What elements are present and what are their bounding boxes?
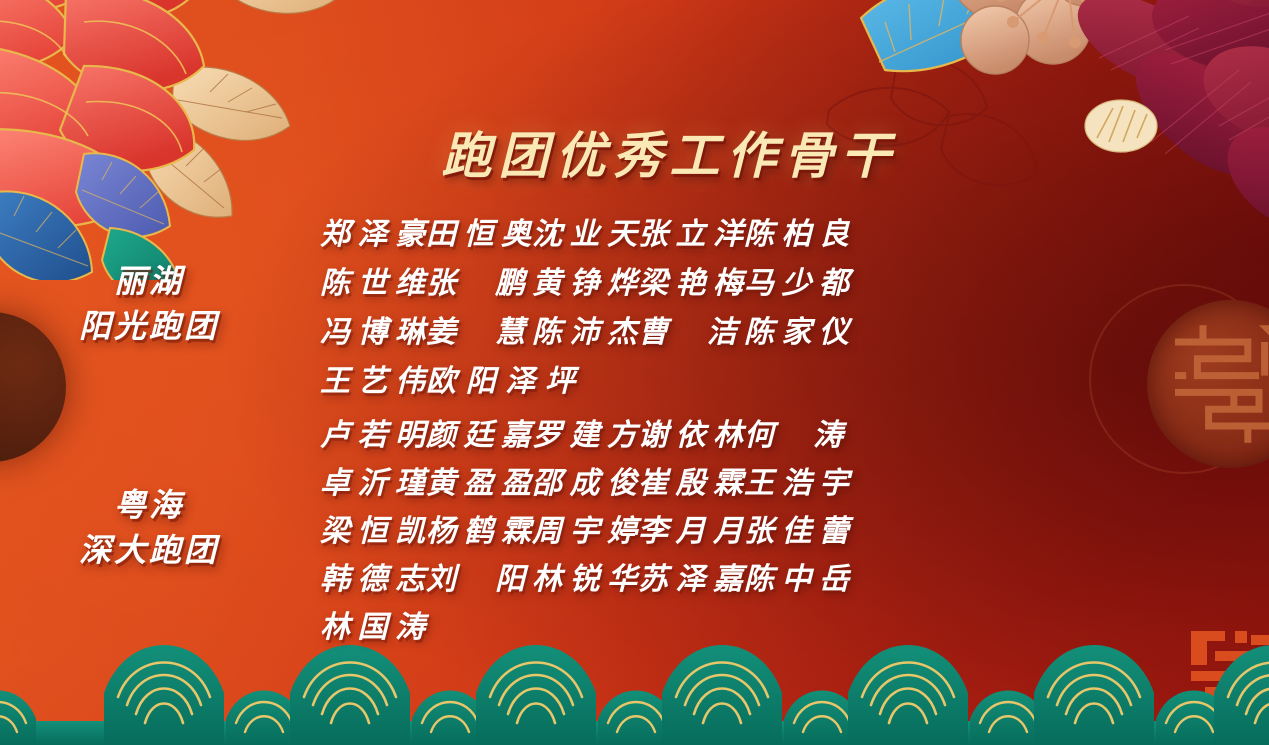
name-char: 姜 xyxy=(426,307,457,351)
name-char: 霖 xyxy=(713,458,744,502)
group-label-lihu: 丽湖 阳光跑团 xyxy=(0,259,320,349)
member-name: 黄铮烨 xyxy=(532,258,638,302)
name-char: 泽 xyxy=(358,209,389,253)
name-char: 坪 xyxy=(545,356,576,400)
name-char: 佳 xyxy=(782,506,813,550)
name-row: 陈世维张鹏黄铮烨梁艳梅马少都 xyxy=(320,255,1269,304)
member-name: 罗建方 xyxy=(532,410,638,454)
name-char: 中 xyxy=(782,554,813,598)
name-char: 凯 xyxy=(395,506,426,550)
name-char: 建 xyxy=(570,410,601,454)
name-char: 谢 xyxy=(638,410,669,454)
name-char: 陈 xyxy=(744,209,775,253)
name-char: 曹 xyxy=(638,307,669,351)
name-char: 鹏 xyxy=(495,258,526,302)
member-name: 张鹏 xyxy=(426,258,532,302)
name-char: 月 xyxy=(676,506,707,550)
name-char: 苏 xyxy=(638,554,669,598)
name-char: 锐 xyxy=(570,554,601,598)
member-name: 谢依林 xyxy=(638,410,744,454)
name-char: 梅 xyxy=(713,258,744,302)
name-char: 冯 xyxy=(320,307,351,351)
name-char: 仪 xyxy=(819,307,850,351)
name-row: 林国涛 xyxy=(320,600,1269,648)
member-name: 欧阳泽坪 xyxy=(426,356,576,400)
member-name: 刘阳 xyxy=(426,554,532,598)
name-grid-yuehai: 卢若明颜廷嘉罗建方谢依林何涛卓沂瑾黄盈盈邵成俊崔殷霖王浩宇梁恒凯杨鹤霖周宇婷李月… xyxy=(320,408,1269,648)
name-char: 殷 xyxy=(676,458,707,502)
name-char: 德 xyxy=(358,554,389,598)
member-name: 曹洁 xyxy=(638,307,744,351)
name-row: 梁恒凯杨鹤霖周宇婷李月月张佳蕾 xyxy=(320,504,1269,552)
name-char: 陈 xyxy=(744,554,775,598)
name-char: 恒 xyxy=(358,506,389,550)
group-label-line1: 粤海 xyxy=(114,486,184,524)
member-name: 梁艳梅 xyxy=(638,258,744,302)
name-char: 若 xyxy=(358,410,389,454)
name-row: 卓沂瑾黄盈盈邵成俊崔殷霖王浩宇 xyxy=(320,456,1269,504)
name-char: 家 xyxy=(782,307,813,351)
member-name: 林国涛 xyxy=(320,602,426,646)
honor-roll-panel: 丽湖 阳光跑团 郑泽豪田恒奥沈业天张立洋陈柏良陈世维张鹏黄铮烨梁艳梅马少都冯博琳… xyxy=(0,206,1269,654)
name-char: 阳 xyxy=(466,356,497,400)
name-char: 韩 xyxy=(320,554,351,598)
name-char: 卓 xyxy=(320,458,351,502)
member-name: 何涛 xyxy=(744,410,850,454)
member-name: 周宇婷 xyxy=(532,506,638,550)
name-char: 豪 xyxy=(395,209,426,253)
name-char: 杨 xyxy=(426,506,457,550)
name-char: 依 xyxy=(676,410,707,454)
name-char: 华 xyxy=(607,554,638,598)
name-row: 卢若明颜廷嘉罗建方谢依林何涛 xyxy=(320,408,1269,456)
name-char: 博 xyxy=(358,307,389,351)
name-char: 月 xyxy=(713,506,744,550)
name-char: 立 xyxy=(676,209,707,253)
name-char: 蕾 xyxy=(819,506,850,550)
member-name: 姜慧 xyxy=(426,307,532,351)
name-char: 瑾 xyxy=(395,458,426,502)
name-char: 恒 xyxy=(464,209,495,253)
name-char: 国 xyxy=(358,602,389,646)
name-char: 鹤 xyxy=(464,506,495,550)
name-char: 周 xyxy=(532,506,563,550)
member-name: 陈柏良 xyxy=(744,209,850,253)
member-name: 韩德志 xyxy=(320,554,426,598)
name-char: 天 xyxy=(607,209,638,253)
name-char: 艺 xyxy=(358,356,389,400)
name-char: 浩 xyxy=(782,458,813,502)
name-char: 嘉 xyxy=(501,410,532,454)
name-char: 烨 xyxy=(607,258,638,302)
member-name: 陈世维 xyxy=(320,258,426,302)
group-label-line2: 深大跑团 xyxy=(0,528,298,573)
name-char: 嘉 xyxy=(713,554,744,598)
name-char: 何 xyxy=(744,410,775,454)
member-name: 颜廷嘉 xyxy=(426,410,532,454)
name-char: 张 xyxy=(638,209,669,253)
name-char: 林 xyxy=(532,554,563,598)
member-name: 邵成俊 xyxy=(532,458,638,502)
name-char: 郑 xyxy=(320,209,351,253)
name-char: 岳 xyxy=(819,554,850,598)
name-char: 张 xyxy=(426,258,457,302)
name-char: 奥 xyxy=(501,209,532,253)
name-char: 廷 xyxy=(464,410,495,454)
member-name: 卓沂瑾 xyxy=(320,458,426,502)
name-char: 卢 xyxy=(320,410,351,454)
name-char: 邵 xyxy=(532,458,563,502)
name-char: 都 xyxy=(819,258,850,302)
member-name: 黄盈盈 xyxy=(426,458,532,502)
name-char: 柏 xyxy=(782,209,813,253)
name-row: 冯博琳姜慧陈沛杰曹洁陈家仪 xyxy=(320,304,1269,353)
name-char: 涛 xyxy=(395,602,426,646)
member-name: 陈中岳 xyxy=(744,554,850,598)
name-char: 王 xyxy=(744,458,775,502)
name-char: 刘 xyxy=(426,554,457,598)
name-char: 霖 xyxy=(501,506,532,550)
name-char: 陈 xyxy=(320,258,351,302)
poster-content: 跑团优秀工作骨干 丽湖 阳光跑团 郑泽豪田恒奥沈业天张立洋陈柏良陈世维张鹏黄铮烨… xyxy=(0,0,1269,745)
name-char: 黄 xyxy=(532,258,563,302)
group-label-yuehai: 粤海 深大跑团 xyxy=(0,483,320,573)
member-name: 马少都 xyxy=(744,258,850,302)
name-char: 王 xyxy=(320,356,351,400)
member-name: 张佳蕾 xyxy=(744,506,850,550)
name-char: 良 xyxy=(819,209,850,253)
name-char: 欧 xyxy=(426,356,457,400)
name-row: 韩德志刘阳林锐华苏泽嘉陈中岳 xyxy=(320,552,1269,600)
name-char: 罗 xyxy=(532,410,563,454)
name-char: 业 xyxy=(570,209,601,253)
name-char: 成 xyxy=(570,458,601,502)
member-name: 田恒奥 xyxy=(426,209,532,253)
name-char: 沂 xyxy=(358,458,389,502)
name-char: 梁 xyxy=(320,506,351,550)
name-char: 洋 xyxy=(713,209,744,253)
member-name: 陈家仪 xyxy=(744,307,850,351)
group-block-lihu: 丽湖 阳光跑团 郑泽豪田恒奥沈业天张立洋陈柏良陈世维张鹏黄铮烨梁艳梅马少都冯博琳… xyxy=(0,206,1269,402)
group-block-yuehai: 粤海 深大跑团 卢若明颜廷嘉罗建方谢依林何涛卓沂瑾黄盈盈邵成俊崔殷霖王浩宇梁恒凯… xyxy=(0,408,1269,648)
name-char: 伟 xyxy=(395,356,426,400)
name-char: 方 xyxy=(607,410,638,454)
name-char: 宇 xyxy=(570,506,601,550)
name-char: 世 xyxy=(358,258,389,302)
member-name: 张立洋 xyxy=(638,209,744,253)
name-char: 盈 xyxy=(464,458,495,502)
page-title: 跑团优秀工作骨干 xyxy=(0,116,1269,188)
name-char: 崔 xyxy=(638,458,669,502)
name-char: 杰 xyxy=(607,307,638,351)
name-char: 梁 xyxy=(638,258,669,302)
name-char: 艳 xyxy=(676,258,707,302)
member-name: 林锐华 xyxy=(532,554,638,598)
name-char: 颜 xyxy=(426,410,457,454)
member-name: 冯博琳 xyxy=(320,307,426,351)
name-char: 维 xyxy=(395,258,426,302)
name-char: 婷 xyxy=(607,506,638,550)
name-char: 志 xyxy=(395,554,426,598)
name-char: 盈 xyxy=(501,458,532,502)
member-name: 苏泽嘉 xyxy=(638,554,744,598)
member-name: 王浩宇 xyxy=(744,458,850,502)
name-char: 泽 xyxy=(676,554,707,598)
poster-canvas: 跑团优秀工作骨干 丽湖 阳光跑团 郑泽豪田恒奥沈业天张立洋陈柏良陈世维张鹏黄铮烨… xyxy=(0,0,1269,745)
name-char: 俊 xyxy=(607,458,638,502)
name-char: 阳 xyxy=(495,554,526,598)
name-char: 林 xyxy=(320,602,351,646)
name-char: 李 xyxy=(638,506,669,550)
name-char: 泽 xyxy=(505,356,536,400)
group-label-line2: 阳光跑团 xyxy=(0,304,298,349)
name-char: 黄 xyxy=(426,458,457,502)
name-char: 琳 xyxy=(395,307,426,351)
name-char: 宇 xyxy=(819,458,850,502)
member-name: 李月月 xyxy=(638,506,744,550)
name-char: 少 xyxy=(782,258,813,302)
name-char: 洁 xyxy=(707,307,738,351)
member-name: 王艺伟 xyxy=(320,356,426,400)
name-char: 陈 xyxy=(532,307,563,351)
name-row: 王艺伟欧阳泽坪 xyxy=(320,353,1269,402)
member-name: 崔殷霖 xyxy=(638,458,744,502)
member-name: 郑泽豪 xyxy=(320,209,426,253)
member-name: 梁恒凯 xyxy=(320,506,426,550)
name-char: 明 xyxy=(395,410,426,454)
name-char: 铮 xyxy=(570,258,601,302)
group-label-line1: 丽湖 xyxy=(114,262,184,300)
name-char: 林 xyxy=(713,410,744,454)
name-char: 沈 xyxy=(532,209,563,253)
member-name: 沈业天 xyxy=(532,209,638,253)
member-name: 杨鹤霖 xyxy=(426,506,532,550)
member-name: 卢若明 xyxy=(320,410,426,454)
name-char: 涛 xyxy=(813,410,844,454)
name-char: 马 xyxy=(744,258,775,302)
name-grid-lihu: 郑泽豪田恒奥沈业天张立洋陈柏良陈世维张鹏黄铮烨梁艳梅马少都冯博琳姜慧陈沛杰曹洁陈… xyxy=(320,206,1269,402)
member-name: 陈沛杰 xyxy=(532,307,638,351)
name-row: 郑泽豪田恒奥沈业天张立洋陈柏良 xyxy=(320,206,1269,255)
name-char: 张 xyxy=(744,506,775,550)
name-char: 慧 xyxy=(495,307,526,351)
name-char: 沛 xyxy=(570,307,601,351)
name-char: 陈 xyxy=(744,307,775,351)
name-char: 田 xyxy=(426,209,457,253)
